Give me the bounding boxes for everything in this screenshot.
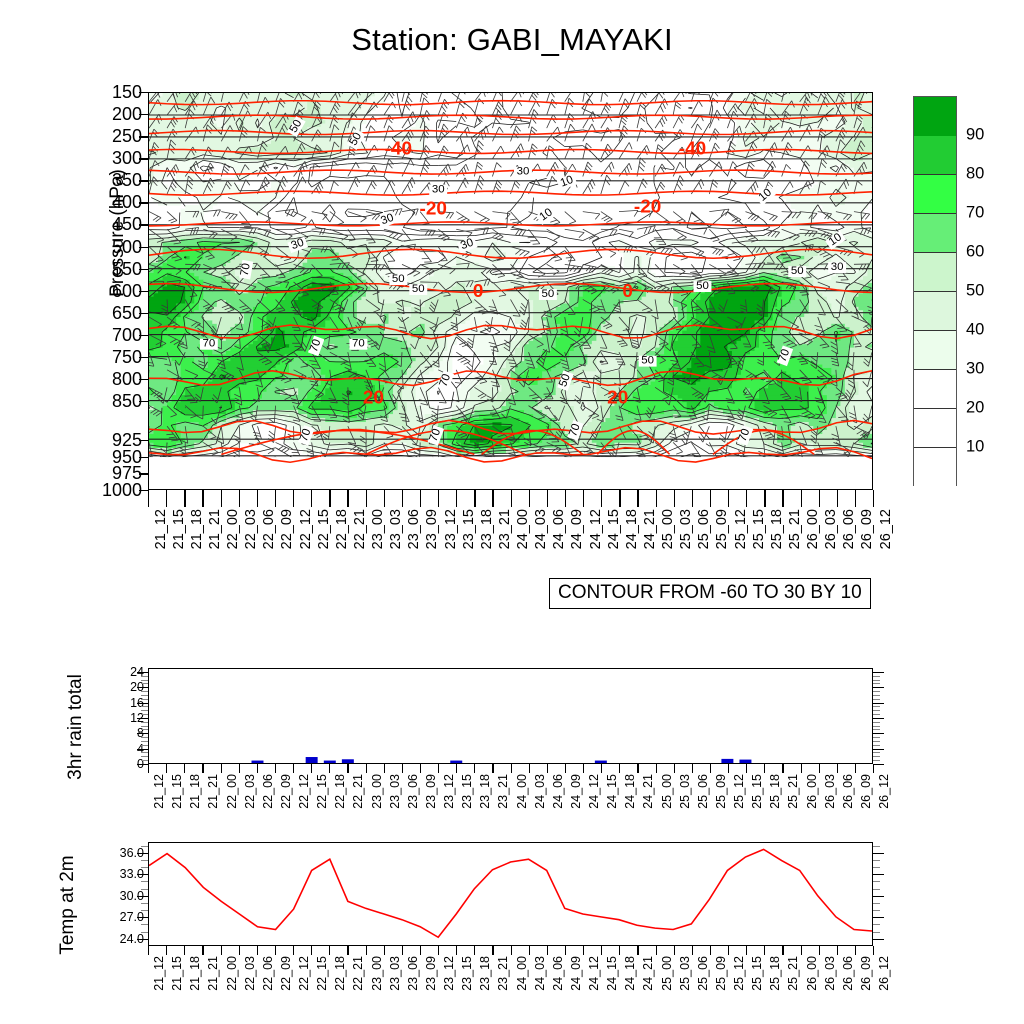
rain-tickmark xyxy=(137,733,148,734)
time-tickmark xyxy=(239,490,240,507)
time-tickmark xyxy=(583,764,584,773)
rain-minor-tick xyxy=(141,741,148,742)
time-label-26_09: 26_09 xyxy=(860,956,873,991)
time-tickmark xyxy=(239,764,240,773)
time-label-25_21: 25_21 xyxy=(787,956,800,991)
time-label-25_00: 25_00 xyxy=(661,509,676,549)
time-label-21_21: 21_21 xyxy=(208,509,223,549)
time-tickmark xyxy=(492,946,493,955)
time-label-25_18: 25_18 xyxy=(769,774,782,809)
time-label-22_03: 22_03 xyxy=(244,774,257,809)
rain-right-tickmark xyxy=(873,741,880,742)
colorbar-label-40: 40 xyxy=(966,321,984,340)
time-label-24_15: 24_15 xyxy=(606,774,619,809)
time-tick-marks-temp xyxy=(148,946,873,956)
time-tickmark xyxy=(547,946,548,955)
pressure-tickmark xyxy=(139,291,148,292)
time-tickmark xyxy=(492,764,493,773)
time-tickmark xyxy=(565,490,566,507)
temp-tickmark xyxy=(137,917,148,918)
time-label-24_00: 24_00 xyxy=(516,956,529,991)
rain-tickmark xyxy=(137,764,148,765)
time-tickmark xyxy=(402,764,403,773)
time-label-22_00: 22_00 xyxy=(226,774,239,809)
time-tickmark xyxy=(202,490,203,507)
time-label-23_21: 23_21 xyxy=(497,774,510,809)
time-label-23_00: 23_00 xyxy=(371,774,384,809)
rain-right-tickmark xyxy=(873,691,880,692)
colorbar-cell xyxy=(914,214,956,253)
time-label-22_15: 22_15 xyxy=(317,509,332,549)
time-label-24_18: 24_18 xyxy=(624,774,637,809)
time-label-21_12: 21_12 xyxy=(154,509,169,549)
rain-tick-marks xyxy=(136,668,148,764)
temp-right-tickmark xyxy=(873,924,880,925)
temp-minor-tick xyxy=(141,881,148,882)
time-label-25_09: 25_09 xyxy=(715,774,728,809)
time-label-22_00: 22_00 xyxy=(226,956,239,991)
time-tickmark xyxy=(202,946,203,955)
time-tickmark xyxy=(420,764,421,773)
rain-right-tickmark xyxy=(873,672,884,673)
time-tickmark xyxy=(728,490,729,507)
time-label-22_06: 22_06 xyxy=(262,509,277,549)
temp-axis-label: Temp at 2m xyxy=(57,805,79,1005)
pressure-tickmark xyxy=(139,180,148,181)
time-label-25_15: 25_15 xyxy=(751,774,764,809)
time-tickmark xyxy=(456,490,457,507)
time-tickmark xyxy=(565,946,566,955)
time-label-26_06: 26_06 xyxy=(842,509,857,549)
rain-minor-tick xyxy=(141,695,148,696)
pressure-tick-750: 750 xyxy=(80,348,142,366)
time-label-21_15: 21_15 xyxy=(171,774,184,809)
time-tickmark xyxy=(293,490,294,507)
time-label-23_03: 23_03 xyxy=(389,509,404,549)
time-label-21_18: 21_18 xyxy=(189,956,202,991)
temp-right-tickmark xyxy=(873,860,880,861)
page-title: Station: GABI_MAYAKI xyxy=(0,22,1024,58)
time-label-23_21: 23_21 xyxy=(498,509,513,549)
time-tickmark xyxy=(366,946,367,955)
rain-right-tickmark xyxy=(873,683,880,684)
time-label-22_09: 22_09 xyxy=(280,509,295,549)
time-label-23_06: 23_06 xyxy=(407,956,420,991)
time-label-25_15: 25_15 xyxy=(752,509,767,549)
time-tickmark xyxy=(837,764,838,773)
time-label-22_21: 22_21 xyxy=(353,509,368,549)
time-tickmark xyxy=(873,764,874,773)
time-tickmark xyxy=(438,490,439,507)
rain-right-tickmark xyxy=(873,760,880,761)
pressure-tickmark xyxy=(139,136,148,137)
time-tickmark xyxy=(511,490,512,507)
pressure-tickmark xyxy=(139,224,148,225)
cross-section-plot: -40-40-20-200020205050303030303010101010… xyxy=(149,93,872,489)
temp-tickmark xyxy=(137,896,148,897)
pressure-tick-labels: 1502002503003504004505005506006507007508… xyxy=(78,92,142,490)
colorbar-cell xyxy=(914,370,956,409)
pressure-tickmark xyxy=(139,379,148,380)
time-tickmark xyxy=(402,490,403,507)
time-tick-labels-temp: 21_1221_1521_1821_2122_0022_0322_0622_09… xyxy=(148,956,873,1014)
colorbar-label-80: 80 xyxy=(966,165,984,184)
time-tickmark xyxy=(746,490,747,507)
rain-tickmark xyxy=(137,718,148,719)
time-label-23_12: 23_12 xyxy=(444,509,459,549)
time-tickmark xyxy=(329,490,330,507)
rain-minor-tick xyxy=(141,745,148,746)
time-label-22_18: 22_18 xyxy=(334,956,347,991)
time-tickmark xyxy=(873,490,874,507)
time-tickmark xyxy=(819,946,820,955)
rain-right-tickmark xyxy=(873,729,880,730)
time-tickmark xyxy=(674,764,675,773)
time-label-22_03: 22_03 xyxy=(244,509,259,549)
time-tickmark xyxy=(239,946,240,955)
time-label-23_06: 23_06 xyxy=(407,509,422,549)
time-label-25_00: 25_00 xyxy=(661,774,674,809)
time-label-23_15: 23_15 xyxy=(461,956,474,991)
rain-right-tickmark xyxy=(873,726,880,727)
time-label-25_18: 25_18 xyxy=(769,956,782,991)
time-tickmark xyxy=(275,764,276,773)
figure-root: Station: GABI_MAYAKI Pressure (hPa) 1502… xyxy=(0,0,1024,1024)
pressure-tickmark xyxy=(139,202,148,203)
time-tickmark xyxy=(601,946,602,955)
time-label-24_15: 24_15 xyxy=(607,509,622,549)
temp-right-tickmark xyxy=(873,853,884,854)
time-tickmark xyxy=(202,764,203,773)
time-tickmark xyxy=(819,490,820,507)
time-tickmark xyxy=(329,764,330,773)
colorbar-cell xyxy=(914,448,956,487)
time-label-24_15: 24_15 xyxy=(606,956,619,991)
time-tickmark xyxy=(293,764,294,773)
time-tickmark xyxy=(166,764,167,773)
time-label-24_00: 24_00 xyxy=(516,509,531,549)
time-tickmark xyxy=(619,764,620,773)
pressure-tick-600: 600 xyxy=(80,282,142,300)
time-label-24_21: 24_21 xyxy=(642,774,655,809)
pressure-tickmark xyxy=(139,457,148,458)
time-label-21_12: 21_12 xyxy=(153,774,166,809)
temp-minor-tick xyxy=(141,932,148,933)
pressure-tick-450: 450 xyxy=(80,215,142,233)
time-label-25_12: 25_12 xyxy=(734,509,749,549)
time-label-26_03: 26_03 xyxy=(824,774,837,809)
time-tickmark xyxy=(311,490,312,507)
rain-minor-tick xyxy=(141,706,148,707)
time-label-23_06: 23_06 xyxy=(407,774,420,809)
time-label-23_18: 23_18 xyxy=(479,956,492,991)
time-label-25_15: 25_15 xyxy=(751,956,764,991)
time-label-24_09: 24_09 xyxy=(570,774,583,809)
time-label-26_12: 26_12 xyxy=(878,956,891,991)
time-tickmark xyxy=(601,490,602,507)
temp-minor-tick xyxy=(141,910,148,911)
temp-right-tickmark xyxy=(873,932,880,933)
time-tickmark xyxy=(474,946,475,955)
rain-minor-tick xyxy=(141,714,148,715)
time-tickmark xyxy=(565,764,566,773)
rain-minor-tick xyxy=(141,680,148,681)
rain-right-tickmark xyxy=(873,718,884,719)
time-tickmark xyxy=(637,764,638,773)
time-tickmark xyxy=(601,764,602,773)
time-tickmark xyxy=(619,490,620,507)
time-label-25_00: 25_00 xyxy=(661,956,674,991)
colorbar-label-60: 60 xyxy=(966,243,984,262)
time-tickmark xyxy=(329,946,330,955)
time-label-26_09: 26_09 xyxy=(860,774,873,809)
time-label-21_15: 21_15 xyxy=(172,509,187,549)
time-tickmark xyxy=(275,946,276,955)
time-label-23_15: 23_15 xyxy=(462,509,477,549)
rain-tickmark xyxy=(137,749,148,750)
time-tickmark xyxy=(619,946,620,955)
time-tickmark xyxy=(710,490,711,507)
time-label-23_12: 23_12 xyxy=(443,956,456,991)
time-label-21_21: 21_21 xyxy=(207,956,220,991)
time-tickmark xyxy=(529,490,530,507)
time-tickmark xyxy=(819,764,820,773)
time-label-24_03: 24_03 xyxy=(534,774,547,809)
colorbar-cell xyxy=(914,292,956,331)
time-tickmark xyxy=(583,946,584,955)
rain-minor-tick xyxy=(141,726,148,727)
time-label-21_18: 21_18 xyxy=(189,774,202,809)
colorbar-label-70: 70 xyxy=(966,204,984,223)
time-label-23_03: 23_03 xyxy=(389,956,402,991)
time-label-24_12: 24_12 xyxy=(588,774,601,809)
time-label-26_00: 26_00 xyxy=(806,774,819,809)
rain-minor-tick xyxy=(141,756,148,757)
time-tickmark xyxy=(275,490,276,507)
pressure-tick-150: 150 xyxy=(80,83,142,101)
time-tickmark xyxy=(438,946,439,955)
temp-right-tickmark xyxy=(873,896,884,897)
time-tickmark xyxy=(764,946,765,955)
time-label-25_09: 25_09 xyxy=(715,956,728,991)
time-label-22_21: 22_21 xyxy=(352,956,365,991)
time-tickmark xyxy=(221,946,222,955)
rain-right-tickmark xyxy=(873,680,880,681)
time-label-26_12: 26_12 xyxy=(878,774,891,809)
temp-right-tickmark xyxy=(873,910,880,911)
time-label-24_06: 24_06 xyxy=(552,509,567,549)
time-label-22_18: 22_18 xyxy=(335,509,350,549)
colorbar xyxy=(913,96,957,486)
temp-minor-tick xyxy=(141,924,148,925)
colorbar-cell xyxy=(914,97,956,136)
time-tickmark xyxy=(166,490,167,507)
time-label-26_00: 26_00 xyxy=(806,956,819,991)
time-label-23_00: 23_00 xyxy=(371,509,386,549)
time-tickmark xyxy=(728,946,729,955)
rain-right-tickmark xyxy=(873,710,880,711)
pressure-tickmark xyxy=(139,158,148,159)
rain-right-tickmark xyxy=(873,749,884,750)
time-label-25_03: 25_03 xyxy=(679,774,692,809)
time-tickmark xyxy=(148,946,149,955)
colorbar-label-90: 90 xyxy=(966,126,984,145)
time-tickmark xyxy=(511,764,512,773)
pressure-tick-650: 650 xyxy=(80,304,142,322)
time-tickmark xyxy=(148,490,149,507)
time-tickmark xyxy=(764,764,765,773)
time-label-24_09: 24_09 xyxy=(570,509,585,549)
time-tickmark xyxy=(801,764,802,773)
colorbar-label-30: 30 xyxy=(966,360,984,379)
time-tickmark xyxy=(257,764,258,773)
rain-right-tickmark xyxy=(873,695,880,696)
time-label-25_21: 25_21 xyxy=(788,509,803,549)
time-tickmark xyxy=(674,490,675,507)
rain-minor-tick xyxy=(141,760,148,761)
pressure-tick-1000: 1000 xyxy=(80,481,142,499)
time-tickmark xyxy=(637,946,638,955)
temp-panel xyxy=(148,842,873,946)
time-tick-marks-main xyxy=(148,490,873,508)
time-label-23_09: 23_09 xyxy=(425,774,438,809)
time-label-26_03: 26_03 xyxy=(824,956,837,991)
time-tickmark xyxy=(311,764,312,773)
time-tickmark xyxy=(547,490,548,507)
time-tick-labels-main: 21_1221_1521_1821_2122_0022_0322_0622_09… xyxy=(148,509,873,575)
temp-right-tickmark xyxy=(873,889,880,890)
time-label-25_12: 25_12 xyxy=(733,956,746,991)
time-label-22_15: 22_15 xyxy=(316,956,329,991)
rain-right-tickmark xyxy=(873,706,880,707)
time-tickmark xyxy=(184,764,185,773)
time-tickmark xyxy=(257,490,258,507)
time-tickmark xyxy=(438,764,439,773)
pressure-tick-200: 200 xyxy=(80,105,142,123)
temp-tickmark xyxy=(137,874,148,875)
time-label-22_06: 22_06 xyxy=(262,956,275,991)
pressure-tickmark xyxy=(139,313,148,314)
time-label-24_12: 24_12 xyxy=(588,956,601,991)
time-tickmark xyxy=(637,490,638,507)
time-label-22_03: 22_03 xyxy=(244,956,257,991)
time-tickmark xyxy=(347,764,348,773)
rain-minor-tick xyxy=(141,676,148,677)
time-tickmark xyxy=(656,490,657,507)
time-label-24_06: 24_06 xyxy=(552,956,565,991)
pressure-tick-250: 250 xyxy=(80,127,142,145)
temp-tick-marks xyxy=(136,842,148,946)
time-tickmark xyxy=(855,946,856,955)
rain-right-tickmark xyxy=(873,703,884,704)
time-tickmark xyxy=(801,490,802,507)
time-tickmark xyxy=(529,764,530,773)
temp-minor-tick xyxy=(141,846,148,847)
pressure-tickmark xyxy=(139,92,148,93)
time-tickmark xyxy=(782,946,783,955)
rain-tickmark xyxy=(137,687,148,688)
rain-right-tickmark xyxy=(873,676,880,677)
rain-tickmark xyxy=(137,672,148,673)
rain-right-ticks xyxy=(873,668,885,764)
time-tickmark xyxy=(456,764,457,773)
time-label-21_15: 21_15 xyxy=(171,956,184,991)
time-tickmark xyxy=(366,490,367,507)
time-label-22_12: 22_12 xyxy=(299,509,314,549)
time-label-23_21: 23_21 xyxy=(497,956,510,991)
contour-caption: CONTOUR FROM -60 TO 30 BY 10 xyxy=(549,578,871,609)
time-tickmark xyxy=(347,490,348,507)
time-tickmark xyxy=(746,764,747,773)
time-tickmark xyxy=(347,946,348,955)
time-label-26_06: 26_06 xyxy=(842,956,855,991)
pressure-tickmark xyxy=(139,114,148,115)
time-tickmark xyxy=(166,946,167,955)
rain-right-tickmark xyxy=(873,733,884,734)
time-label-24_03: 24_03 xyxy=(534,956,547,991)
time-tickmark xyxy=(583,490,584,507)
time-label-22_21: 22_21 xyxy=(352,774,365,809)
pressure-tickmark xyxy=(139,357,148,358)
time-tickmark xyxy=(692,490,693,507)
time-label-22_15: 22_15 xyxy=(316,774,329,809)
time-tickmark xyxy=(710,946,711,955)
time-tickmark xyxy=(384,764,385,773)
time-label-25_09: 25_09 xyxy=(715,509,730,549)
pressure-tick-700: 700 xyxy=(80,326,142,344)
pressure-tickmark xyxy=(139,440,148,441)
pressure-tick-400: 400 xyxy=(80,193,142,211)
temp-minor-tick xyxy=(141,860,148,861)
rain-tickmark xyxy=(137,703,148,704)
time-label-26_06: 26_06 xyxy=(842,774,855,809)
time-label-24_06: 24_06 xyxy=(552,774,565,809)
temp-right-tickmark xyxy=(873,846,880,847)
temp-tickmark xyxy=(137,853,148,854)
time-label-24_09: 24_09 xyxy=(570,956,583,991)
time-tickmark xyxy=(855,764,856,773)
time-label-21_21: 21_21 xyxy=(207,774,220,809)
time-tickmark xyxy=(402,946,403,955)
rain-right-tickmark xyxy=(873,745,880,746)
time-label-25_18: 25_18 xyxy=(770,509,785,549)
rain-right-tickmark xyxy=(873,756,880,757)
time-tickmark xyxy=(184,490,185,507)
time-label-24_21: 24_21 xyxy=(643,509,658,549)
temp-right-ticks xyxy=(873,842,885,946)
time-tickmark xyxy=(221,490,222,507)
rain-minor-tick xyxy=(141,729,148,730)
time-tickmark xyxy=(656,764,657,773)
time-label-25_06: 25_06 xyxy=(697,956,710,991)
time-label-24_18: 24_18 xyxy=(624,956,637,991)
time-label-24_21: 24_21 xyxy=(642,956,655,991)
temp-right-tickmark xyxy=(873,939,884,940)
time-tickmark xyxy=(656,946,657,955)
time-tickmark xyxy=(384,490,385,507)
pressure-tick-800: 800 xyxy=(80,370,142,388)
time-label-23_03: 23_03 xyxy=(389,774,402,809)
rain-right-tickmark xyxy=(873,737,880,738)
time-tickmark xyxy=(547,764,548,773)
time-tickmark xyxy=(148,764,149,773)
colorbar-cell xyxy=(914,175,956,214)
pressure-tick-550: 550 xyxy=(80,260,142,278)
time-tickmark xyxy=(873,946,874,955)
time-tickmark xyxy=(529,946,530,955)
colorbar-label-20: 20 xyxy=(966,399,984,418)
time-label-22_09: 22_09 xyxy=(280,956,293,991)
